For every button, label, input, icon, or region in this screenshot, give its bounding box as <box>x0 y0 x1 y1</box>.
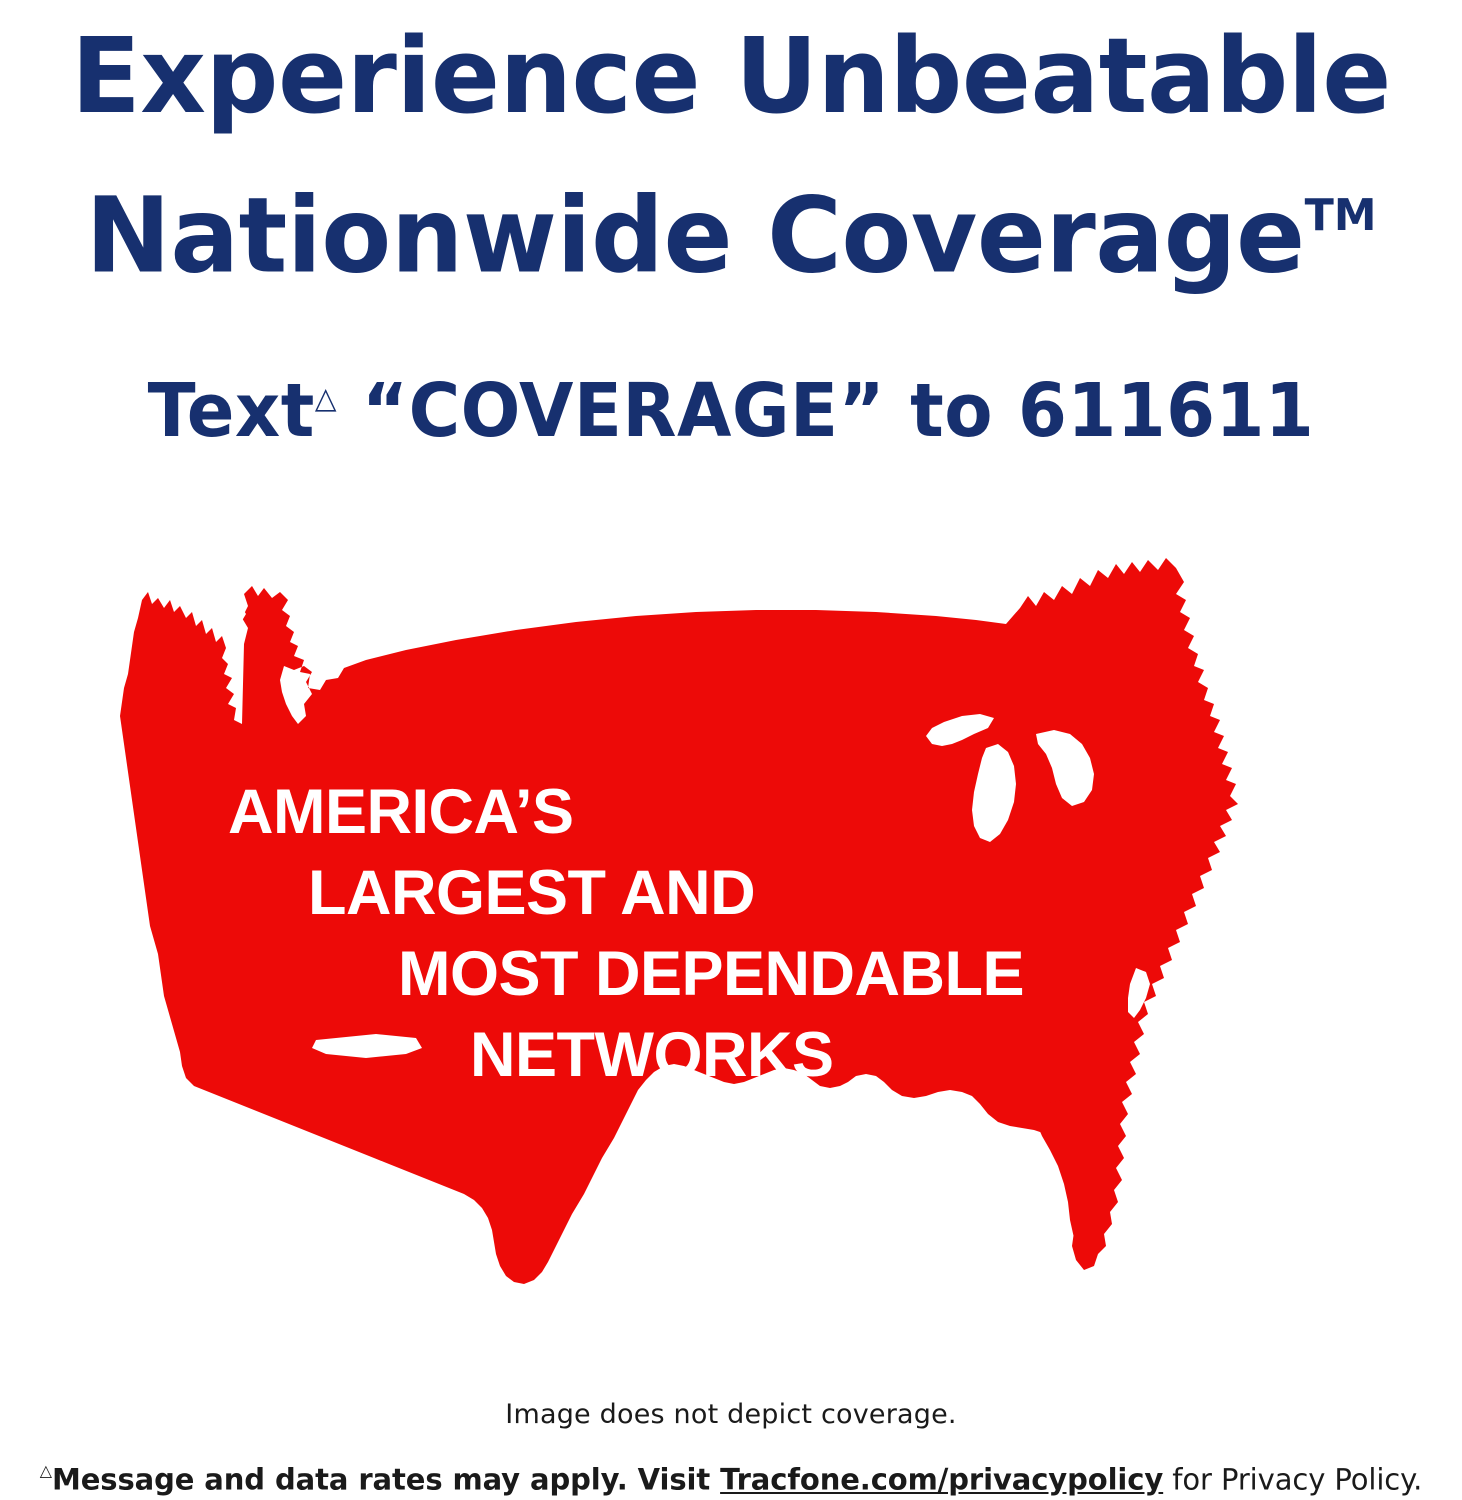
subhead-spacer-3 <box>993 368 1018 454</box>
subhead-spacer-2 <box>885 368 910 454</box>
legal-text-before: Message and data rates may apply. Visit <box>52 1463 720 1497</box>
trademark-symbol: TM <box>1305 190 1377 241</box>
headline-block: Experience Unbeatable Nationwide Coverag… <box>0 6 1462 305</box>
pacific-northwest-detail <box>226 582 246 644</box>
privacy-policy-link[interactable]: Tracfone.com/privacypolicy <box>720 1463 1163 1497</box>
subhead-keyword: “COVERAGE” <box>362 368 885 454</box>
subhead-to-word: to <box>910 368 993 454</box>
legal-delta-icon: △ <box>40 1461 52 1480</box>
subhead-short-code: 611611 <box>1018 368 1314 454</box>
headline-line-2: Nationwide CoverageTM <box>15 146 1448 305</box>
subhead-cta: Text△ “COVERAGE” to 611611 <box>37 352 1426 457</box>
footnote-delta-icon: △ <box>315 381 337 415</box>
subhead-text-word: Text <box>148 368 315 454</box>
united-states-map-icon <box>76 548 1326 1358</box>
map-container <box>76 548 1326 1358</box>
gulf-coast-waterline <box>636 1088 776 1128</box>
headline-line-1: Experience Unbeatable <box>15 6 1448 146</box>
legal-text-after: for Privacy Policy. <box>1163 1463 1422 1497</box>
headline-line-2-text: Nationwide Coverage <box>86 174 1305 296</box>
legal-line: △Message and data rates may apply. Visit… <box>0 1452 1462 1499</box>
disclaimer-note: Image does not depict coverage. <box>0 1398 1462 1432</box>
subhead-spacer-1 <box>337 368 362 454</box>
